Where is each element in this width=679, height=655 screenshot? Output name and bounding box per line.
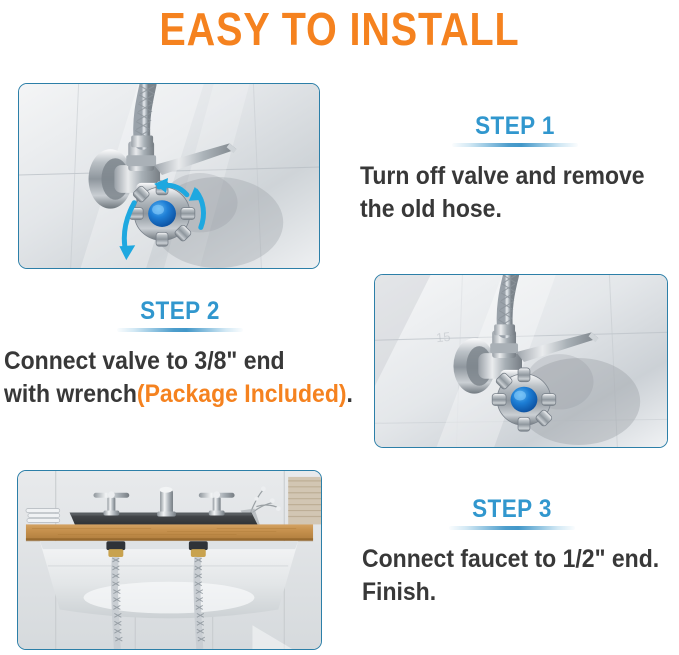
page-title: EASY TO INSTALL [48, 2, 632, 56]
step-3-block: STEP 3 Connect faucet to 1/2" end. Finis… [352, 495, 672, 609]
photo-step-3 [17, 470, 322, 650]
step-2-line-2: with wrench(Package Included). [4, 378, 332, 411]
step-2-line-2-plain: with wrench [4, 380, 137, 408]
photo-step-2-art: 15 [375, 275, 667, 447]
step-2-block: STEP 2 Connect valve to 3/8" end with wr… [0, 297, 360, 411]
step-1-text: Turn off valve and remove the old hose. [360, 160, 670, 226]
step-2-underline [117, 328, 243, 332]
step-1-line-2: the old hose. [360, 193, 645, 226]
step-2-highlight: (Package Included) [137, 380, 347, 408]
svg-text:15: 15 [435, 329, 451, 345]
step-2-text: Connect valve to 3/8" end with wrench(Pa… [0, 345, 360, 411]
step-2-line-2-tail: . [347, 380, 353, 408]
photo-step-1-art [19, 84, 319, 268]
step-3-line-2: Finish. [362, 576, 647, 609]
step-1-label: STEP 1 [376, 112, 655, 140]
step-3-line-1: Connect faucet to 1/2" end. [362, 543, 647, 576]
photo-step-2: 15 [374, 274, 668, 448]
step-3-underline [449, 526, 575, 530]
step-2-line-1: Connect valve to 3/8" end [4, 345, 332, 378]
step-1-underline [452, 143, 578, 147]
step-2-label: STEP 2 [18, 297, 342, 325]
step-1-line-1: Turn off valve and remove [360, 160, 645, 193]
step-3-text: Connect faucet to 1/2" end. Finish. [352, 543, 672, 609]
step-3-label: STEP 3 [368, 495, 656, 523]
photo-step-1 [18, 83, 320, 269]
photo-step-3-art [18, 471, 321, 649]
step-1-block: STEP 1 Turn off valve and remove the old… [360, 112, 670, 226]
